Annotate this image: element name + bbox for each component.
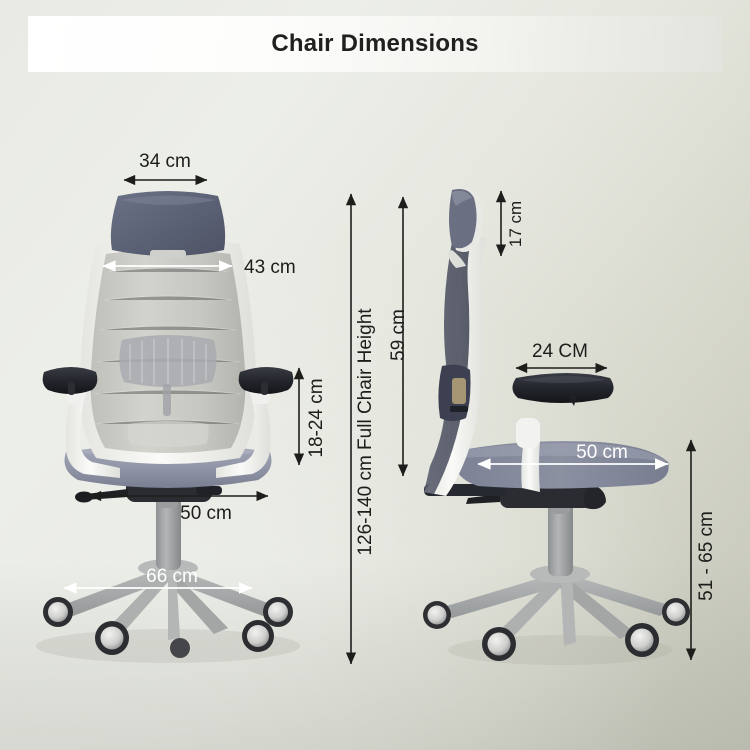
dimension-seat-width-label: 50 cm xyxy=(180,503,232,524)
dimension-seat-height-label: 51 - 65 cm xyxy=(696,511,717,601)
dimension-full-chair-height-label: 126-140 cm Full Chair Height xyxy=(355,308,376,556)
chair-illustrations: 34 cm 43 cm 18-24 cm 50 cm 66 cm 126-140… xyxy=(0,0,750,750)
dimension-headrest-height: 17 cm xyxy=(501,191,525,256)
dimension-backrest-height-label: 59 cm xyxy=(388,309,409,361)
chair-dimensions-infographic: Chair Dimensions xyxy=(0,0,750,750)
side-gas-cylinder xyxy=(548,498,573,576)
dimension-armrest-height-label: 18-24 cm xyxy=(306,378,327,457)
front-gas-cylinder xyxy=(156,492,181,570)
dimension-armrest-height: 18-24 cm xyxy=(299,368,327,465)
dimension-backrest-height: 59 cm xyxy=(388,197,409,476)
dimension-seat-height: 51 - 65 cm xyxy=(691,440,717,660)
side-lumbar-support xyxy=(438,365,470,421)
dimension-base-width-label: 66 cm xyxy=(146,566,198,587)
dimension-base-width: 66 cm xyxy=(64,566,252,588)
dimension-full-chair-height: 126-140 cm Full Chair Height xyxy=(351,194,376,664)
side-view-chair xyxy=(423,187,690,665)
dimension-backrest-width-label: 43 cm xyxy=(244,257,296,278)
dimension-headrest-height-label: 17 cm xyxy=(506,201,525,247)
dimension-armrest-depth-label: 24 CM xyxy=(532,341,588,362)
dimension-headrest-width-label: 34 cm xyxy=(139,151,191,172)
dimension-armrest-depth: 24 CM xyxy=(516,341,607,368)
dimension-headrest-width: 34 cm xyxy=(124,151,207,180)
dimension-seat-depth-label: 50 cm xyxy=(576,442,628,463)
